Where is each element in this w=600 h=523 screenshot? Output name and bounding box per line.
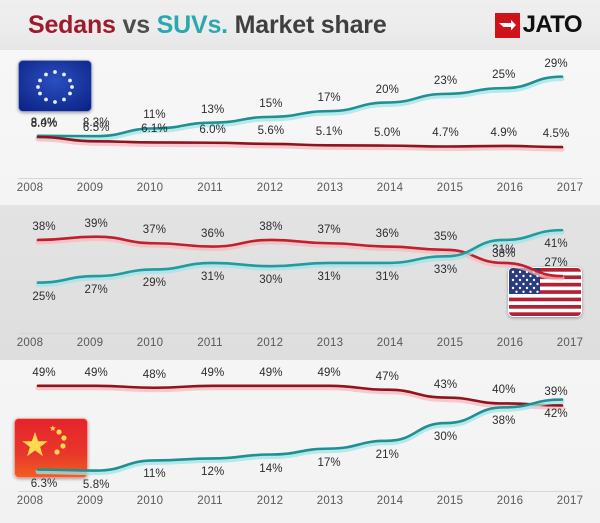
data-label: 38% [492,415,515,427]
data-label: 11% [143,109,165,121]
data-label: 41% [544,238,567,250]
x-tick-2010: 2010 [120,495,180,513]
x-tick-2014: 2014 [360,337,420,355]
data-label: 12% [201,466,224,478]
data-label: 36% [376,228,399,240]
data-label: 8.0% [31,118,58,130]
data-label: 49% [317,367,340,379]
x-tick-2013: 2013 [300,495,360,513]
x-tick-2011: 2011 [180,182,240,200]
data-label: 15% [259,98,282,110]
data-label: 27% [85,284,108,296]
axis-line [18,491,582,492]
data-label: 38% [259,221,282,233]
title-market-share: Market share [235,11,387,39]
panel-china: 49%49%48%49%49%49%47%43%40%39%6.3%5.8%11… [0,360,600,523]
page-title: Sedans vs SUVs. Market share [28,11,387,40]
x-axis-labels: 2008200920102011201220132014201520162017 [0,182,600,200]
x-tick-2012: 2012 [240,337,300,355]
data-label: 47% [376,371,399,383]
x-tick-2017: 2017 [540,337,600,355]
data-label: 37% [317,224,340,236]
title-vs: vs [122,11,149,39]
data-label: 49% [201,367,224,379]
series-line-suvs [38,77,562,137]
data-label: 29% [544,58,567,70]
data-label: 17% [317,92,340,104]
data-label: 4.9% [490,127,517,139]
x-axis-labels: 2008200920102011201220132014201520162017 [0,495,600,513]
data-label: 29% [143,277,166,289]
x-tick-2013: 2013 [300,182,360,200]
data-label: 4.7% [432,127,459,139]
data-label: 5.0% [374,127,401,139]
jato-arrow-icon [495,13,520,38]
panel-europe: 8.4%8.3%11%13%15%17%20%23%25%29%8.0%6.5%… [0,50,600,205]
x-tick-2015: 2015 [420,495,480,513]
title-suvs: SUVs. [157,11,228,39]
data-label: 30% [259,274,282,286]
axis-line [18,333,582,334]
data-label: 48% [143,369,166,381]
data-label: 49% [259,367,282,379]
data-label: 11% [143,468,165,480]
x-tick-2016: 2016 [480,337,540,355]
axis-line [18,178,582,179]
data-label: 6.3% [31,478,58,490]
chart-page: Sedans vs SUVs. Market share JATO [0,0,600,523]
data-label: 30% [434,431,457,443]
x-tick-2013: 2013 [300,337,360,355]
x-tick-2016: 2016 [480,495,540,513]
data-label: 42% [544,408,567,420]
title-sedans: Sedans [28,11,116,39]
jato-logo: JATO [495,12,582,38]
plot-united-states: 38%39%37%36%38%37%36%35%31%27%25%27%29%3… [0,205,600,360]
data-label: 17% [317,457,340,469]
x-tick-2014: 2014 [360,495,420,513]
plot-europe: 8.4%8.3%11%13%15%17%20%23%25%29%8.0%6.5%… [0,50,600,205]
data-label: 39% [544,386,567,398]
data-label: 31% [376,271,399,283]
data-label: 6.0% [199,124,226,136]
x-tick-2008: 2008 [0,182,60,200]
x-axis-labels: 2008200920102011201220132014201520162017 [0,337,600,355]
data-label: 31% [201,271,224,283]
data-label: 5.6% [258,125,285,137]
x-tick-2012: 2012 [240,182,300,200]
panel-united-states: 38%39%37%36%38%37%36%35%31%27%25%27%29%3… [0,205,600,360]
data-label: 25% [32,291,55,303]
data-label: 36% [201,228,224,240]
data-label: 5.8% [83,479,110,491]
x-tick-2017: 2017 [540,182,600,200]
data-label: 13% [201,104,224,116]
data-label: 40% [492,384,515,396]
data-label: 20% [376,84,399,96]
x-tick-2010: 2010 [120,337,180,355]
data-label: 23% [434,75,457,87]
x-tick-2012: 2012 [240,495,300,513]
x-tick-2016: 2016 [480,182,540,200]
data-label: 49% [85,367,108,379]
data-label: 25% [492,69,515,81]
series-glow [38,388,562,408]
data-label: 31% [317,271,340,283]
data-label: 38% [492,248,515,260]
data-label: 37% [143,224,166,236]
data-label: 6.1% [141,123,168,135]
data-label: 6.5% [83,122,110,134]
data-label: 4.5% [543,128,570,140]
series-line-suvs [38,400,562,471]
x-tick-2011: 2011 [180,337,240,355]
x-tick-2015: 2015 [420,182,480,200]
series-glow [38,79,562,139]
x-tick-2009: 2009 [60,337,120,355]
chart-header: Sedans vs SUVs. Market share JATO [0,0,600,50]
data-label: 27% [544,257,567,269]
data-label: 21% [376,449,399,461]
x-tick-2015: 2015 [420,337,480,355]
data-label: 43% [434,379,457,391]
x-tick-2008: 2008 [0,495,60,513]
data-label: 38% [32,221,55,233]
data-label: 14% [259,463,282,475]
jato-wordmark: JATO [523,13,582,37]
plot-china: 49%49%48%49%49%49%47%43%40%39%6.3%5.8%11… [0,360,600,523]
data-label: 35% [434,231,457,243]
data-label: 33% [434,264,457,276]
x-tick-2008: 2008 [0,337,60,355]
data-label: 5.1% [316,126,343,138]
x-tick-2017: 2017 [540,495,600,513]
x-tick-2010: 2010 [120,182,180,200]
data-label: 39% [85,218,108,230]
x-tick-2009: 2009 [60,495,120,513]
x-tick-2009: 2009 [60,182,120,200]
x-tick-2014: 2014 [360,182,420,200]
data-label: 49% [32,367,55,379]
x-tick-2011: 2011 [180,495,240,513]
